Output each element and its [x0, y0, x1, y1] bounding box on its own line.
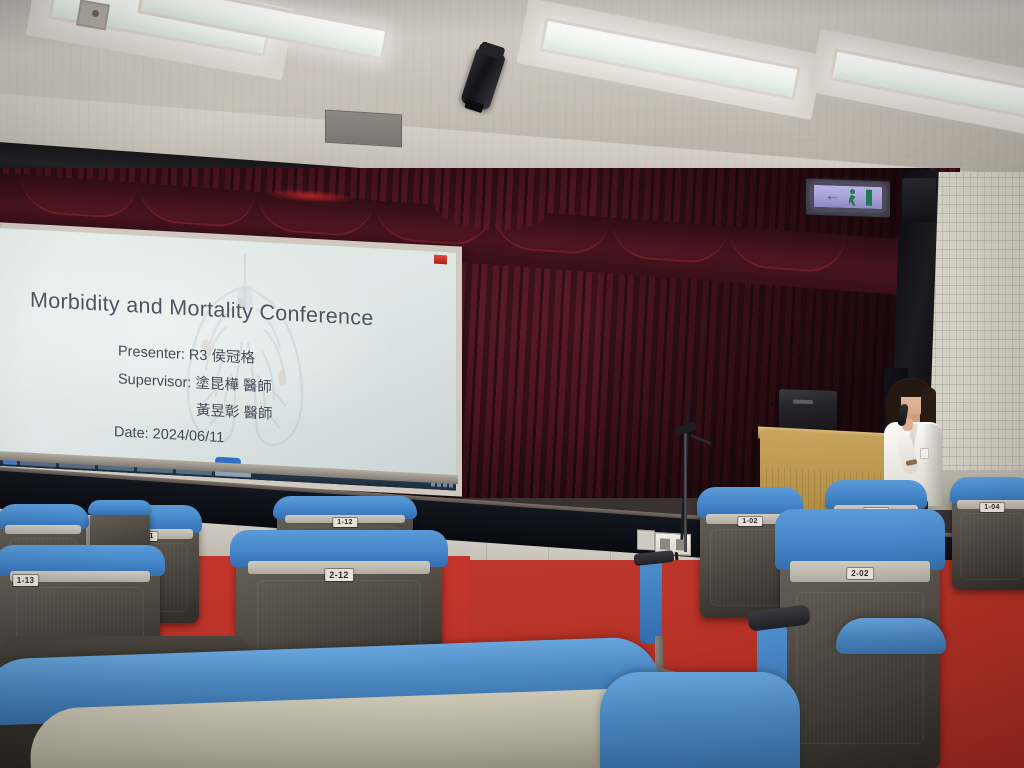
seat-right-3[interactable]: 1-04 — [952, 486, 1024, 590]
slide-date-line: Date: 2024/06/11 — [114, 424, 224, 446]
seat-panel — [796, 592, 924, 744]
seat-number-tag: 1-12 — [333, 518, 357, 527]
wall-junction-box — [637, 530, 655, 551]
screen-power-indicator — [434, 255, 447, 265]
seat-number-tag: 1-02 — [738, 517, 762, 526]
slide-title: Morbidity and Mortality Conference — [30, 288, 430, 335]
projection-screen[interactable]: Morbidity and Mortality Conference Prese… — [0, 228, 456, 491]
seat-number-tag: 2-12 — [325, 569, 353, 581]
seat-panel — [960, 513, 1024, 580]
seat-headrest — [88, 500, 152, 516]
presenter-id-badge — [920, 448, 929, 459]
slide-content: Morbidity and Mortality Conference Prese… — [0, 228, 456, 491]
seat-number-tag: 2-02 — [847, 568, 873, 579]
microphone-stand — [684, 432, 687, 552]
monitor-logo — [793, 399, 813, 404]
running-person-icon — [846, 188, 861, 206]
slide-supervisor-line: Supervisor: 塗昆樺 醫師 — [118, 367, 272, 396]
seat-right-front-cushion — [836, 618, 946, 654]
wall-speaker-vent — [325, 110, 402, 148]
slide-supervisor-line-2: 黃昱彰 醫師 — [196, 399, 273, 424]
foreground-seat-cushion-right[interactable] — [600, 672, 800, 768]
lecture-hall-photo: Morbidity and Mortality Conference Prese… — [0, 0, 1024, 768]
exit-door-icon — [866, 190, 872, 206]
seat-number-tag: 1-04 — [980, 503, 1004, 512]
seat-head-stripe — [5, 525, 81, 534]
wall-speaker-icon — [902, 178, 936, 222]
exit-arrow-icon: ← — [825, 188, 841, 205]
exit-sign: ← — [812, 183, 884, 212]
seat-number-tag: 1-13 — [13, 575, 39, 586]
seat-right-1-side — [640, 560, 662, 644]
ceiling-fixture-screw — [92, 10, 99, 17]
slide-presenter-line: Presenter: R3 侯冠格 — [118, 339, 255, 367]
